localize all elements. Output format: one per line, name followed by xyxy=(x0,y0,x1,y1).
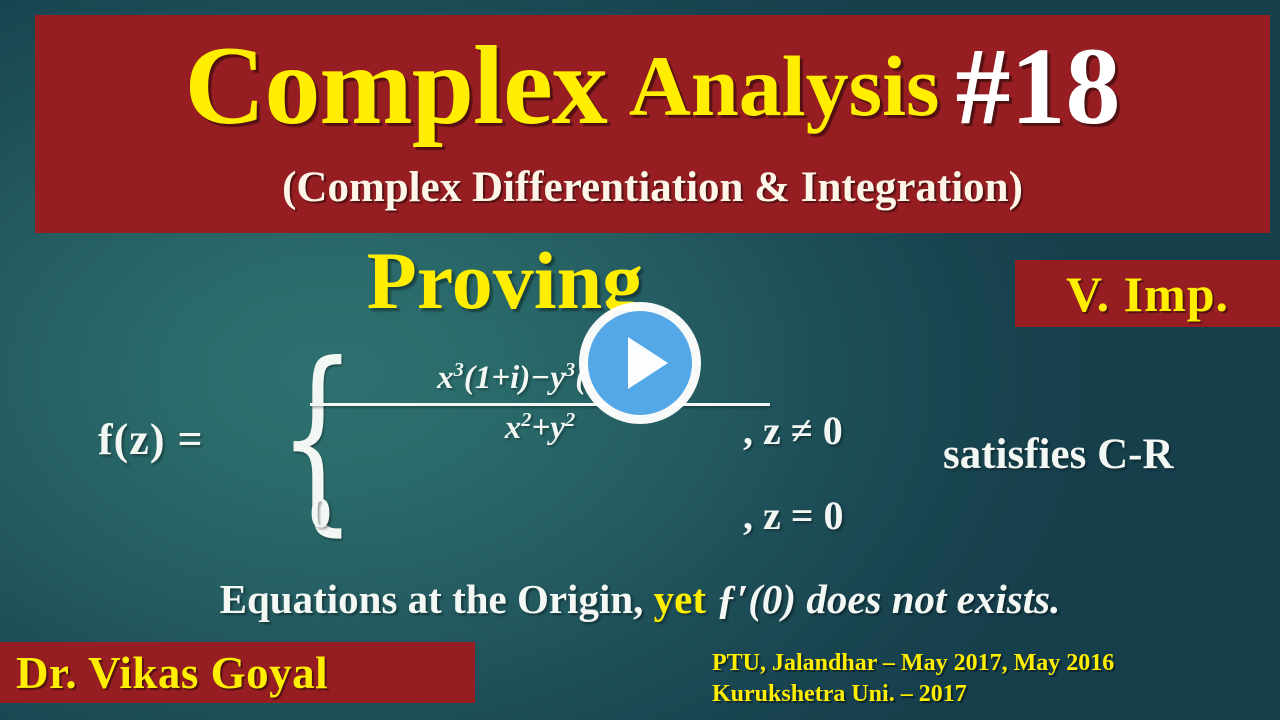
conclusion-highlight: yet xyxy=(654,576,706,622)
title-episode-number: #18 xyxy=(955,31,1120,141)
header-banner: Complex Analysis #18 (Complex Differenti… xyxy=(35,15,1270,233)
video-thumbnail: Complex Analysis #18 (Complex Differenti… xyxy=(0,0,1280,720)
play-icon[interactable] xyxy=(576,299,704,427)
important-badge-label: V. Imp. xyxy=(1066,265,1229,323)
exam-references: PTU, Jalandhar – May 2017, May 2016 Kuru… xyxy=(712,648,1114,709)
play-button[interactable] xyxy=(576,299,704,427)
title-main: Complex xyxy=(185,30,607,142)
formula-condition-2: , z = 0 xyxy=(743,492,844,539)
header-subtitle: (Complex Differentiation & Integration) xyxy=(35,163,1270,212)
function-label: f(z) = xyxy=(98,414,204,465)
formula-trailing-text: satisfies C-R xyxy=(943,430,1174,479)
title-line: Complex Analysis #18 xyxy=(35,11,1270,161)
proving-heading: Proving xyxy=(0,240,1010,322)
exam-reference-line-2: Kurukshetra Uni. – 2017 xyxy=(712,679,1114,710)
exam-reference-line-1: PTU, Jalandhar – May 2017, May 2016 xyxy=(712,648,1114,679)
author-name: Dr. Vikas Goyal xyxy=(16,647,328,699)
author-badge: Dr. Vikas Goyal xyxy=(0,642,475,703)
title-sub: Analysis xyxy=(629,43,940,129)
conclusion-part-1: Equations at the Origin, xyxy=(220,576,654,622)
conclusion-part-2: ƒ′(0) does not exists. xyxy=(706,576,1060,622)
formula-case-2-value: 0 xyxy=(310,490,331,538)
important-badge: V. Imp. xyxy=(1015,260,1280,327)
conclusion-text: Equations at the Origin, yet ƒ′(0) does … xyxy=(0,575,1280,623)
formula-condition-1: , z ≠ 0 xyxy=(743,407,843,454)
